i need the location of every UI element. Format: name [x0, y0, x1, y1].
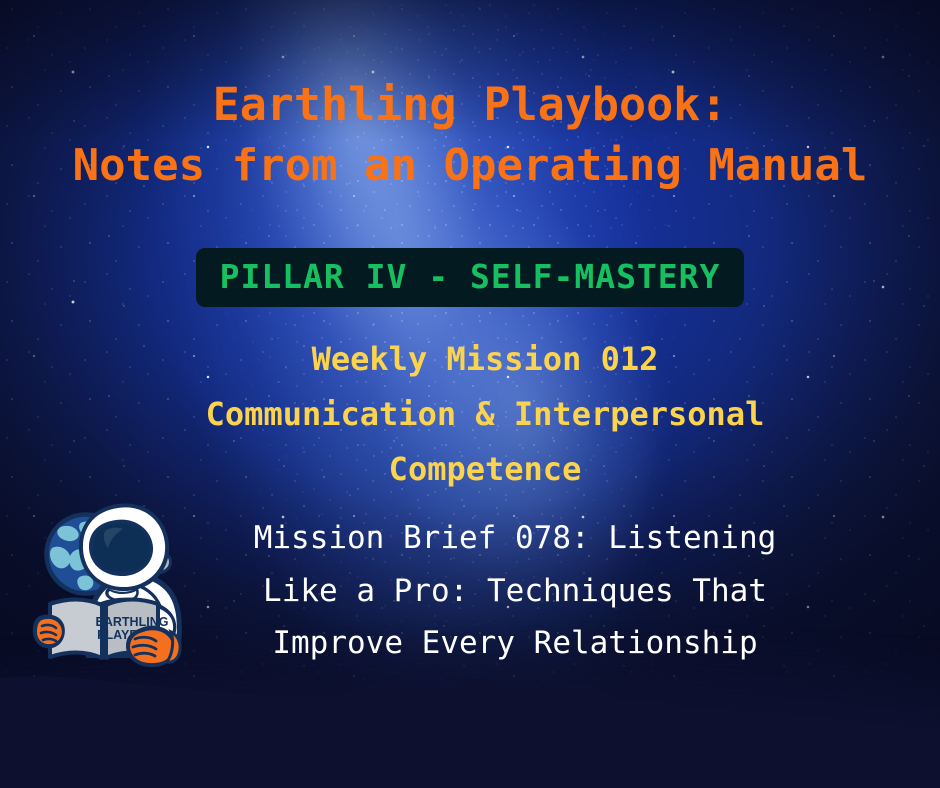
astronaut-reading-book-icon: EARTHLING PLAYBOOK	[28, 492, 204, 680]
mission-title-line-2: Competence	[110, 442, 860, 497]
mission-title-line-1: Communication & Interpersonal	[110, 387, 860, 442]
mission-card: Earthling Playbook: Notes from an Operat…	[0, 0, 940, 788]
astronaut-right-glove-icon	[126, 626, 180, 667]
mission-brief-line-3: Improve Every Relationship	[168, 617, 862, 670]
astronaut-left-glove-icon	[33, 614, 65, 648]
status-badge-pillar: PILLAR IV - SELF-MASTERY	[196, 248, 745, 307]
mission-brief-block: Mission Brief 078: Listening Like a Pro:…	[168, 512, 862, 670]
mission-number-label: Weekly Mission 012	[110, 332, 860, 387]
mission-brief-line-1: Mission Brief 078: Listening	[168, 512, 862, 565]
page-title-line-1: Earthling Playbook:	[0, 82, 940, 127]
pillar-badge-wrap: PILLAR IV - SELF-MASTERY	[0, 248, 940, 307]
mission-block: Weekly Mission 012 Communication & Inter…	[110, 332, 860, 497]
card-title-block: Earthling Playbook: Notes from an Operat…	[0, 82, 940, 188]
mission-brief-line-2: Like a Pro: Techniques That	[168, 565, 862, 618]
card-content: Earthling Playbook: Notes from an Operat…	[0, 0, 940, 788]
page-title-line-2: Notes from an Operating Manual	[0, 144, 940, 188]
